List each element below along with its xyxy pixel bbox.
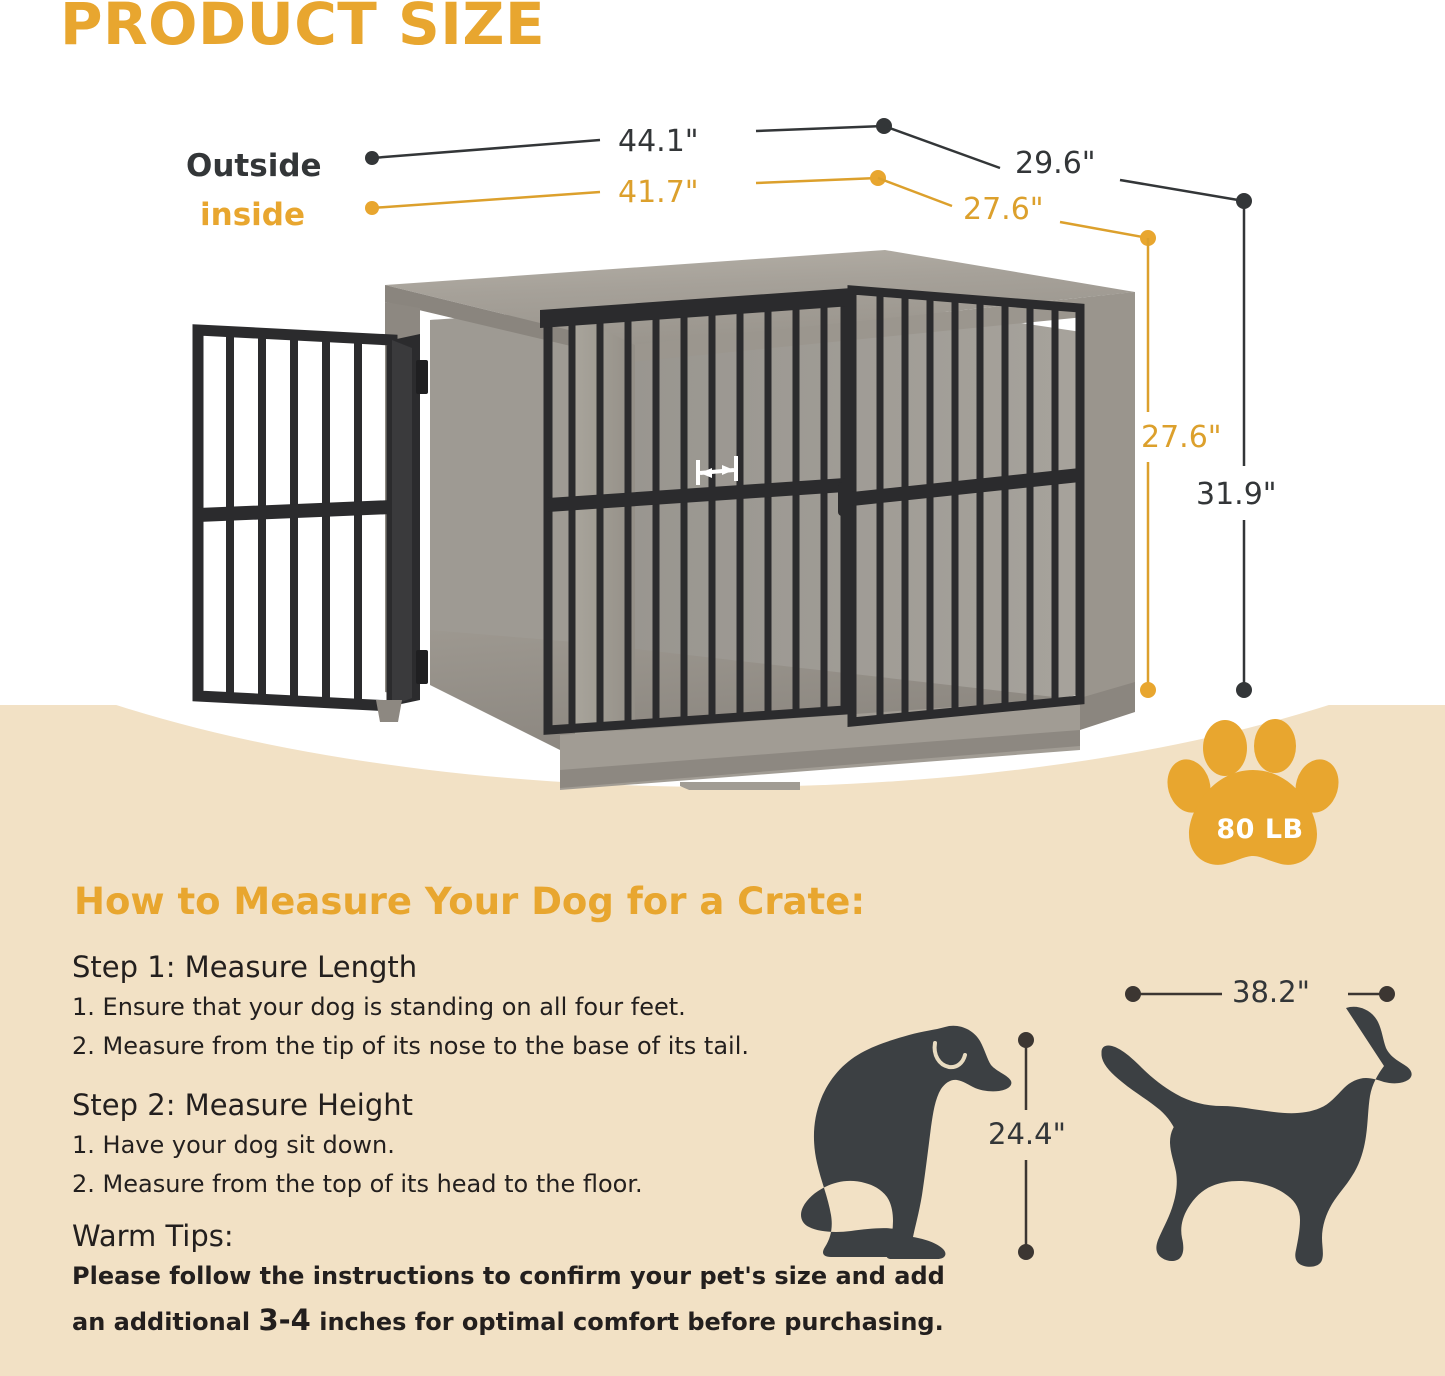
warm-tips-emphasis: 3-4 (258, 1303, 310, 1337)
dot-319-bottom (1236, 682, 1252, 698)
step2-line-1: 1. Have your dog sit down. (72, 1131, 395, 1159)
step2-heading: Step 2: Measure Height (72, 1088, 413, 1122)
step1-heading: Step 1: Measure Length (72, 950, 417, 984)
crate-foot-left (680, 782, 800, 790)
step2-line-2: 2. Measure from the top of its head to t… (72, 1170, 643, 1198)
leader-417-right (756, 178, 878, 183)
dot-296-right (1236, 193, 1252, 209)
warm-tips-line-2-prefix: an additional (72, 1308, 258, 1336)
leader-296-left (884, 126, 1000, 168)
dog-length-dimension: 38.2" (1232, 975, 1310, 1009)
dog-height-dimension: 24.4" (988, 1117, 1066, 1151)
weight-capacity-label: 80 LB (1165, 814, 1355, 845)
door-support-foot (376, 700, 402, 722)
door-hinge-top (416, 360, 428, 394)
dot-276h-bottom (1140, 682, 1156, 698)
dot-417-left (365, 201, 379, 215)
dim-outside-height: 31.9" (1196, 477, 1277, 512)
warm-tips-line-2-suffix: inches for optimal comfort before purcha… (311, 1308, 944, 1336)
door-edge-thickness (392, 340, 412, 706)
dog-crate-illustration (180, 230, 1140, 790)
warm-tips-heading: Warm Tips: (72, 1219, 234, 1253)
legend-outside-label: Outside (186, 148, 322, 184)
paw-print-icon (1165, 718, 1355, 883)
dot-276-right (1140, 230, 1156, 246)
dim-inside-depth: 27.6" (963, 192, 1044, 227)
leader-417-left (372, 192, 600, 208)
leader-276-left (878, 178, 952, 206)
crate-interior-left-wall (430, 310, 575, 670)
leader-441-right (756, 126, 884, 131)
product-size-infographic: PRODUCT SIZE Outside inside (0, 0, 1445, 1376)
dim-inside-height: 27.6" (1141, 420, 1222, 455)
crate-right-post (1080, 292, 1135, 730)
step1-line-1: 1. Ensure that your dog is standing on a… (72, 993, 686, 1021)
warm-tips-line-2: an additional 3-4 inches for optimal com… (72, 1303, 944, 1337)
leader-441-left (372, 140, 600, 158)
door-hinge-bottom (416, 650, 428, 684)
leader-296-right (1120, 180, 1244, 201)
howto-title: How to Measure Your Dog for a Crate: (74, 880, 865, 923)
dot-inside-corner-apex (870, 170, 886, 186)
step1-line-2: 2. Measure from the tip of its nose to t… (72, 1032, 749, 1060)
dim-inside-width: 41.7" (618, 175, 699, 210)
standing-dog-silhouette (1100, 1000, 1430, 1290)
crate-open-door (198, 330, 428, 722)
dot-outside-corner-apex (876, 118, 892, 134)
dot-441-left (365, 151, 379, 165)
dim-outside-width: 44.1" (618, 124, 699, 159)
weight-capacity-badge: 80 LB (1165, 718, 1355, 883)
dim-outside-depth: 29.6" (1015, 146, 1096, 181)
legend-inside-label: inside (200, 197, 305, 233)
page-title: PRODUCT SIZE (60, 0, 545, 58)
